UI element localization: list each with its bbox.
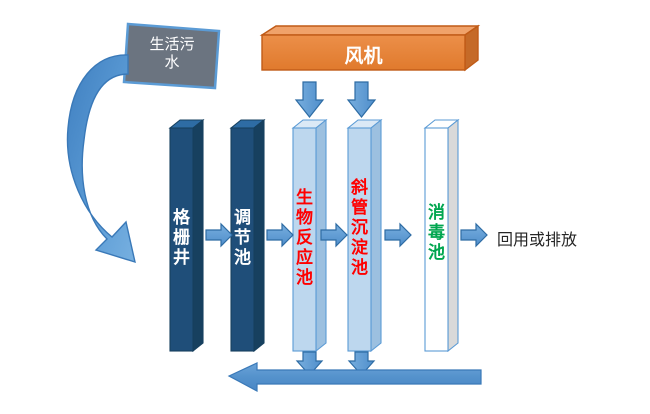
unit-label-grit-chamber: 格 栅 井 <box>170 208 193 268</box>
sewage-source-label-line1: 生活污 <box>131 36 213 54</box>
unit-label-char: 池 <box>231 248 254 268</box>
unit-label-equalization-tank: 调 节 池 <box>231 208 254 268</box>
unit-label-char: 管 <box>348 198 371 218</box>
connector-arrow-4 <box>385 224 411 246</box>
unit-label-char: 物 <box>293 208 316 228</box>
unit-label-disinfection-tank: 消 毒 池 <box>425 203 448 263</box>
unit-label-char: 消 <box>425 203 448 223</box>
unit-label-char: 调 <box>231 208 254 228</box>
connector-arrow-5 <box>461 224 487 246</box>
unit-label-char: 栅 <box>170 228 193 248</box>
unit-label-inclined-tube-sedimentation-tank: 斜 管 沉 淀 池 <box>348 178 371 278</box>
unit-label-char: 井 <box>170 248 193 268</box>
unit-label-char: 池 <box>425 243 448 263</box>
unit-label-char: 淀 <box>348 238 371 258</box>
influent-curved-arrow <box>67 55 135 262</box>
unit-label-char: 毒 <box>425 223 448 243</box>
unit-label-char: 格 <box>170 208 193 228</box>
unit-label-char: 节 <box>231 228 254 248</box>
blower-label: 风机 <box>262 41 465 68</box>
unit-label-char: 池 <box>348 258 371 278</box>
unit-label-char: 沉 <box>348 218 371 238</box>
aeration-arrow-bioreactor <box>296 82 323 117</box>
sewage-source-label-line2: 水 <box>131 54 213 72</box>
connector-arrow-1 <box>206 224 232 246</box>
sewage-source-label: 生活污 水 <box>131 36 213 72</box>
unit-label-char: 反 <box>293 228 316 248</box>
connector-arrow-2 <box>267 224 293 246</box>
unit-label-bioreactor-tank: 生 物 反 应 池 <box>293 188 316 288</box>
unit-label-char: 斜 <box>348 178 371 198</box>
process-flow-diagram: 生活污 水 风机 格 栅 井 调 节 池 生 物 反 应 池 斜 管 沉 淀 池… <box>0 0 650 414</box>
aeration-arrow-sedimentation <box>348 82 375 117</box>
unit-label-char: 生 <box>293 188 316 208</box>
unit-label-char: 池 <box>293 268 316 288</box>
outlet-label: 回用或排放 <box>497 226 577 250</box>
unit-label-char: 应 <box>293 248 316 268</box>
